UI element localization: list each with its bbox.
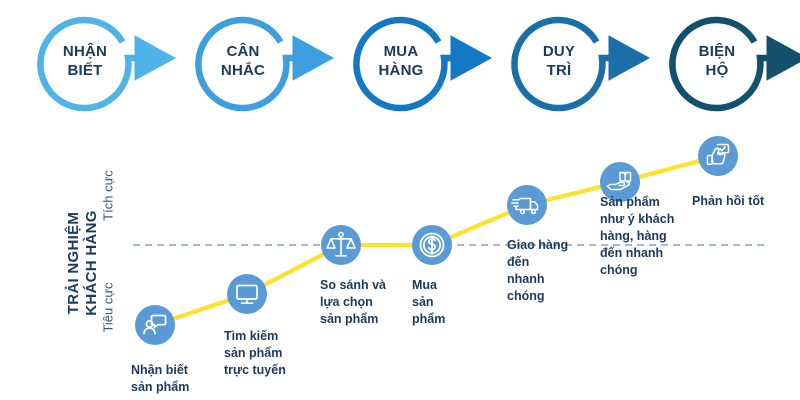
touchpoint-node-7 [698, 136, 738, 176]
touchpoint-node-3 [321, 225, 361, 265]
touchpoint-caption-3: So sánh và lựa chọn sản phẩm [320, 277, 425, 328]
dollar-coin-icon [421, 234, 444, 257]
touchpoint-node-2 [227, 274, 267, 314]
touchpoint-caption-7: Phản hồi tốt [692, 193, 800, 210]
touchpoint-caption-5: Giao hàng đến nhanh chóng [507, 237, 602, 305]
touchpoint-caption-1: Nhận biết sản phẩm [131, 362, 231, 396]
touchpoint-caption-2: Tìm kiếm sản phẩm trực tuyến [224, 328, 324, 379]
touchpoint-node-4 [412, 225, 452, 265]
touchpoint-caption-4: Mua sản phẩm [412, 277, 492, 328]
touchpoint-node-5 [507, 185, 547, 225]
touchpoint-node-1 [135, 305, 175, 345]
